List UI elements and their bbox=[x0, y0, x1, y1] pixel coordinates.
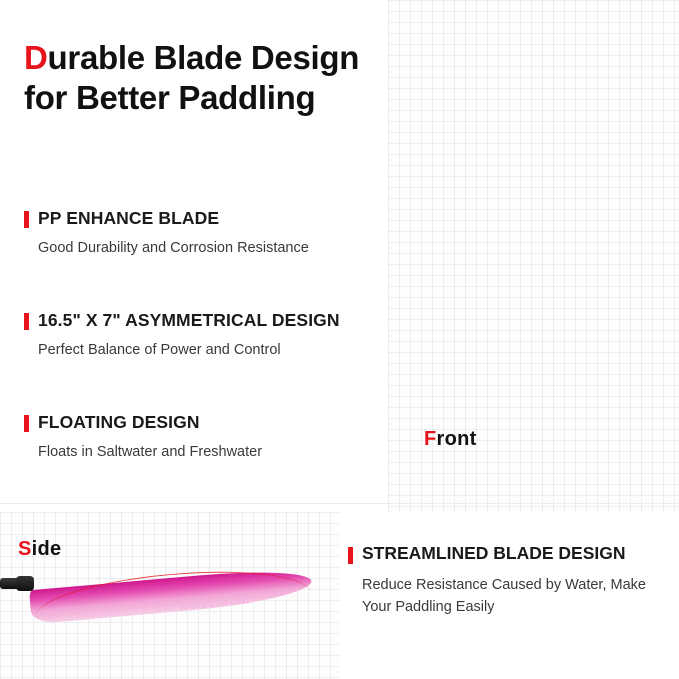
view-label-front: Front bbox=[424, 428, 477, 451]
feature-description: Reduce Resistance Caused by Water, Make … bbox=[362, 574, 673, 618]
feature-description: Floats in Saltwater and Freshwater bbox=[38, 442, 374, 462]
feature-description: Perfect Balance of Power and Control bbox=[38, 340, 374, 360]
product-feature-infographic: Durable Blade Design for Better Paddling… bbox=[0, 0, 679, 679]
bullet-bar-icon bbox=[24, 313, 29, 330]
headline-line-1: urable Blade Design bbox=[48, 39, 360, 76]
bullet-bar-icon bbox=[24, 211, 29, 228]
bullet-bar-icon bbox=[24, 415, 29, 432]
bullet-bar-icon bbox=[348, 547, 353, 564]
front-label-accent-letter: F bbox=[424, 428, 437, 450]
view-label-side: Side bbox=[18, 538, 61, 561]
page-title: Durable Blade Design for Better Paddling bbox=[24, 38, 384, 118]
feature-title: 16.5" X 7" ASYMMETRICAL DESIGN bbox=[38, 309, 374, 331]
side-label-accent-letter: S bbox=[18, 538, 32, 560]
paddle-side-view-image: WONITAGO bbox=[0, 560, 340, 640]
feature-item-streamlined-blade-design: STREAMLINED BLADE DESIGN Reduce Resistan… bbox=[348, 543, 673, 618]
feature-description: Good Durability and Corrosion Resistance bbox=[38, 238, 374, 258]
feature-title: STREAMLINED BLADE DESIGN bbox=[362, 543, 673, 564]
feature-title: FLOATING DESIGN bbox=[38, 411, 374, 433]
feature-item-pp-enhance-blade: PP ENHANCE BLADE Good Durability and Cor… bbox=[24, 207, 374, 258]
feature-item-floating-design: FLOATING DESIGN Floats in Saltwater and … bbox=[24, 411, 374, 462]
paddle-blade-side: WONITAGO bbox=[30, 568, 312, 620]
headline-line-2: for Better Paddling bbox=[24, 79, 315, 116]
front-label-rest: ront bbox=[437, 428, 477, 450]
side-label-rest: ide bbox=[32, 538, 62, 560]
feature-item-asymmetrical-design: 16.5" X 7" ASYMMETRICAL DESIGN Perfect B… bbox=[24, 309, 374, 360]
feature-title: PP ENHANCE BLADE bbox=[38, 207, 374, 229]
headline-accent-letter: D bbox=[24, 39, 48, 76]
